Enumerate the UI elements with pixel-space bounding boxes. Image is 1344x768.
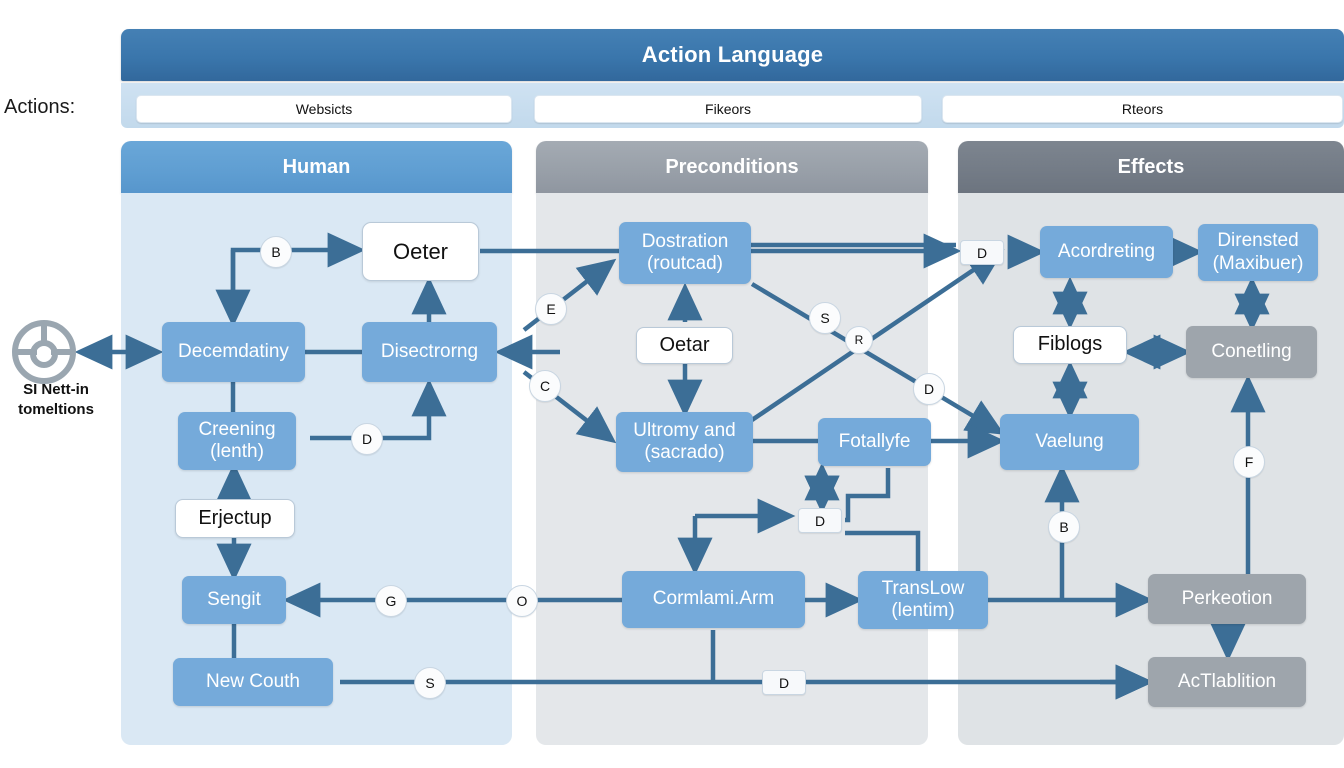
node-oeter[interactable]: Oeter (362, 222, 479, 281)
node-label: Dostration (642, 231, 729, 253)
node-label: Cormlami.Arm (653, 588, 774, 610)
node-sengit[interactable]: Sengit (182, 576, 286, 624)
edge-badge-o-bottom: O (506, 585, 538, 617)
node-perkeotion[interactable]: Perkeotion (1148, 574, 1306, 624)
node-label: Oetar (659, 334, 709, 358)
edge-badge-f-effects: F (1233, 446, 1265, 478)
node-sublabel: (routcad) (647, 253, 723, 275)
node-conetling[interactable]: Conetling (1186, 326, 1317, 378)
node-label: Erjectup (198, 507, 271, 531)
node-label: Dirensted (1217, 230, 1298, 252)
node-oetar[interactable]: Oetar (636, 327, 733, 364)
node-label: Sengit (207, 589, 261, 611)
node-label: Oeter (393, 239, 448, 265)
node-erjectup[interactable]: Erjectup (175, 499, 295, 538)
node-label: Decemdatiny (178, 341, 289, 363)
edge-badge-e-preconditions: E (535, 293, 567, 325)
node-label: AcTlablition (1178, 671, 1276, 693)
node-label: Disectrorng (381, 341, 478, 363)
node-new-couth[interactable]: New Couth (173, 658, 333, 706)
edge-badge-d-human-mid: D (351, 423, 383, 455)
node-disectrorng[interactable]: Disectrorng (362, 322, 497, 382)
side-caption-line2: tomeltions (18, 401, 94, 418)
edge-badge-b-human-top: B (260, 236, 292, 268)
node-sublabel: (Maxibuer) (1213, 253, 1304, 275)
node-label: Ultromy and (633, 420, 735, 442)
node-decemdatiny[interactable]: Decemdatiny (162, 322, 305, 382)
node-acordreting[interactable]: Acordreting (1040, 226, 1173, 278)
node-label: Vaelung (1035, 431, 1103, 453)
steering-wheel-icon (10, 318, 78, 386)
node-fiblogs[interactable]: Fiblogs (1013, 326, 1127, 364)
edge-badge-crossing-preconditions: R (845, 326, 873, 354)
node-dirensted-maxibuer[interactable]: Dirensted (Maxibuer) (1198, 224, 1318, 281)
node-sublabel: (lenth) (210, 441, 264, 463)
edge-badge-s-bottom: S (414, 667, 446, 699)
edge-badge-g-bottom: G (375, 585, 407, 617)
node-label: Fotallyfe (839, 431, 911, 453)
node-label: TransLow (882, 578, 965, 600)
edge-layer (0, 0, 1344, 768)
edge-badge-rect-effects-top: D (960, 240, 1004, 265)
edge-badge-rect-preconditions-mid: D (798, 508, 842, 533)
edge-badge-d-preconditions: D (913, 373, 945, 405)
node-label: Perkeotion (1182, 588, 1273, 610)
node-label: New Couth (206, 671, 300, 693)
node-cormlami-arm[interactable]: Cormlami.Arm (622, 571, 805, 628)
edge-badge-b-effects: B (1048, 511, 1080, 543)
edge-badge-rect-preconditions-low: D (762, 670, 806, 695)
node-vaelung[interactable]: Vaelung (1000, 414, 1139, 470)
node-label: Conetling (1211, 341, 1291, 363)
node-dostration[interactable]: Dostration (routcad) (619, 222, 751, 284)
node-fotallyfe[interactable]: Fotallyfe (818, 418, 931, 466)
edge-badge-s-preconditions: S (809, 302, 841, 334)
side-icon-caption: SI Nett-in tomeltions (0, 380, 112, 420)
node-label: Creening (198, 419, 275, 441)
node-sublabel: (lentim) (891, 600, 954, 622)
node-sublabel: (sacrado) (644, 442, 724, 464)
side-caption-line1: SI Nett-in (23, 381, 89, 398)
node-actlablition[interactable]: AcTlablition (1148, 657, 1306, 707)
node-creening[interactable]: Creening (lenth) (178, 412, 296, 470)
node-ultromy-and-sacrado[interactable]: Ultromy and (sacrado) (616, 412, 753, 472)
diagram-canvas: Action Language Actions: Websicts Fikeor… (0, 0, 1344, 768)
node-label: Fiblogs (1038, 333, 1102, 357)
node-label: Acordreting (1058, 241, 1155, 263)
edge-badge-c-preconditions: C (529, 370, 561, 402)
node-translow-lentim[interactable]: TransLow (lentim) (858, 571, 988, 629)
